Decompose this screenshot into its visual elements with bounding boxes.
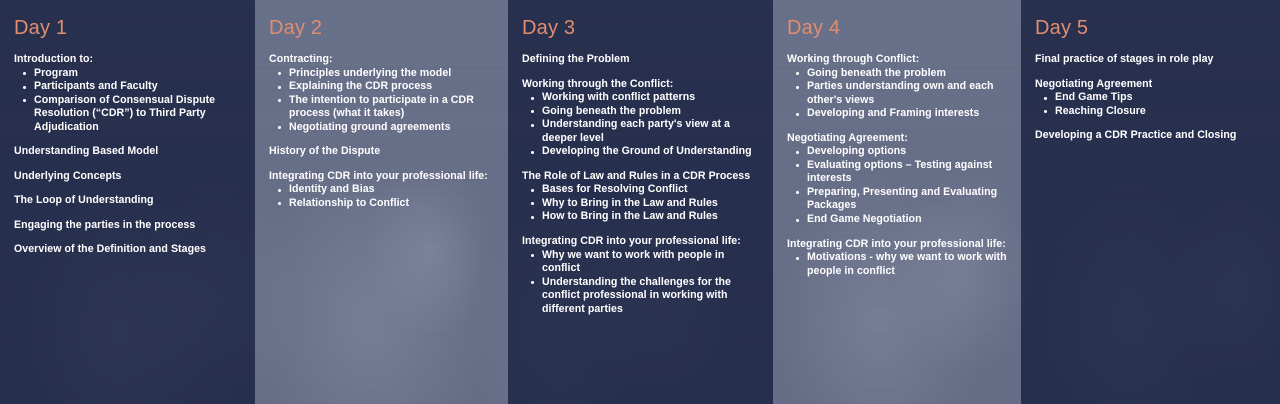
bullet-item: Identity and Bias <box>269 183 494 197</box>
day-column-3: Day 3 Defining the ProblemWorking throug… <box>508 0 773 404</box>
content-block: Integrating CDR into your professional l… <box>269 170 494 211</box>
bullet-item: Going beneath the problem <box>787 67 1007 81</box>
block-heading: Working through Conflict: <box>787 53 1007 67</box>
content-block: Engaging the parties in the process <box>14 219 241 233</box>
bullet-item: Developing options <box>787 145 1007 159</box>
bullet-list: Why we want to work with people in confl… <box>522 249 759 317</box>
day-content: Final practice of stages in role playNeg… <box>1035 53 1266 143</box>
bullet-item: How to Bring in the Law and Rules <box>522 210 759 224</box>
day-column-2: Day 2 Contracting:Principles underlying … <box>255 0 508 404</box>
day-title: Day 5 <box>1035 18 1266 38</box>
bullet-item: Comparison of Consensual Dispute Resolut… <box>14 94 241 135</box>
bullet-item: Developing and Framing interests <box>787 107 1007 121</box>
bullet-item: Program <box>14 67 241 81</box>
content-block: Understanding Based Model <box>14 145 241 159</box>
bullet-item: Relationship to Conflict <box>269 197 494 211</box>
content-block: Underlying Concepts <box>14 170 241 184</box>
bullet-item: Principles underlying the model <box>269 67 494 81</box>
content-block: History of the Dispute <box>269 145 494 159</box>
bullet-list: Working with conflict patternsGoing bene… <box>522 91 759 159</box>
slide-canvas: Day 1 Introduction to:ProgramParticipant… <box>0 0 1280 404</box>
bullet-list: End Game TipsReaching Closure <box>1035 91 1266 118</box>
bullet-list: Identity and BiasRelationship to Conflic… <box>269 183 494 210</box>
block-heading: The Role of Law and Rules in a CDR Proce… <box>522 170 759 184</box>
bullet-item: Why to Bring in the Law and Rules <box>522 197 759 211</box>
block-heading: Overview of the Definition and Stages <box>14 243 241 257</box>
content-block: Working through Conflict:Going beneath t… <box>787 53 1007 121</box>
block-heading: Developing a CDR Practice and Closing <box>1035 129 1266 143</box>
bullet-item: Parties understanding own and each other… <box>787 80 1007 107</box>
bullet-item: Motivations - why we want to work with p… <box>787 251 1007 278</box>
content-block: The Loop of Understanding <box>14 194 241 208</box>
day-title: Day 3 <box>522 18 759 38</box>
block-heading: History of the Dispute <box>269 145 494 159</box>
content-block: Integrating CDR into your professional l… <box>787 238 1007 279</box>
bullet-list: Going beneath the problemParties underst… <box>787 67 1007 121</box>
content-block: Integrating CDR into your professional l… <box>522 235 759 316</box>
block-heading: Integrating CDR into your professional l… <box>522 235 759 249</box>
block-heading: Working through the Conflict: <box>522 78 759 92</box>
content-block: Defining the Problem <box>522 53 759 67</box>
bullet-item: Reaching Closure <box>1035 105 1266 119</box>
block-heading: Negotiating Agreement: <box>787 132 1007 146</box>
day-title: Day 4 <box>787 18 1007 38</box>
bullet-item: Bases for Resolving Conflict <box>522 183 759 197</box>
day-content: Working through Conflict:Going beneath t… <box>787 53 1007 278</box>
bullet-item: Developing the Ground of Understanding <box>522 145 759 159</box>
bullet-list: ProgramParticipants and FacultyCompariso… <box>14 67 241 135</box>
bullet-item: Explaining the CDR process <box>269 80 494 94</box>
content-block: Negotiating Agreement:Developing options… <box>787 132 1007 227</box>
day-content: Defining the ProblemWorking through the … <box>522 53 759 316</box>
bullet-item: Why we want to work with people in confl… <box>522 249 759 276</box>
bullet-list: Principles underlying the modelExplainin… <box>269 67 494 135</box>
bullet-item: The intention to participate in a CDR pr… <box>269 94 494 121</box>
block-heading: Integrating CDR into your professional l… <box>787 238 1007 252</box>
day-content: Contracting:Principles underlying the mo… <box>269 53 494 210</box>
block-heading: Final practice of stages in role play <box>1035 53 1266 67</box>
content-block: Contracting:Principles underlying the mo… <box>269 53 494 134</box>
block-heading: Introduction to: <box>14 53 241 67</box>
bullet-item: Preparing, Presenting and Evaluating Pac… <box>787 186 1007 213</box>
day-column-1: Day 1 Introduction to:ProgramParticipant… <box>0 0 255 404</box>
block-heading: Defining the Problem <box>522 53 759 67</box>
bullet-item: End Game Negotiation <box>787 213 1007 227</box>
block-heading: Engaging the parties in the process <box>14 219 241 233</box>
day-column-5: Day 5 Final practice of stages in role p… <box>1021 0 1280 404</box>
bullet-item: Going beneath the problem <box>522 105 759 119</box>
content-block: Final practice of stages in role play <box>1035 53 1266 67</box>
day-content: Introduction to:ProgramParticipants and … <box>14 53 241 257</box>
bullet-item: Negotiating ground agreements <box>269 121 494 135</box>
bullet-item: Participants and Faculty <box>14 80 241 94</box>
block-heading: The Loop of Understanding <box>14 194 241 208</box>
block-heading: Contracting: <box>269 53 494 67</box>
bullet-list: Bases for Resolving ConflictWhy to Bring… <box>522 183 759 224</box>
day-title: Day 1 <box>14 18 241 38</box>
content-block: Negotiating AgreementEnd Game TipsReachi… <box>1035 78 1266 119</box>
bullet-item: End Game Tips <box>1035 91 1266 105</box>
content-block: The Role of Law and Rules in a CDR Proce… <box>522 170 759 224</box>
day-column-4: Day 4 Working through Conflict:Going ben… <box>773 0 1021 404</box>
block-heading: Negotiating Agreement <box>1035 78 1266 92</box>
bullet-item: Evaluating options – Testing against int… <box>787 159 1007 186</box>
bullet-list: Motivations - why we want to work with p… <box>787 251 1007 278</box>
content-block: Introduction to:ProgramParticipants and … <box>14 53 241 134</box>
block-heading: Underlying Concepts <box>14 170 241 184</box>
content-block: Working through the Conflict:Working wit… <box>522 78 759 159</box>
bullet-item: Understanding each party's view at a dee… <box>522 118 759 145</box>
block-heading: Integrating CDR into your professional l… <box>269 170 494 184</box>
content-block: Developing a CDR Practice and Closing <box>1035 129 1266 143</box>
bullet-list: Developing optionsEvaluating options – T… <box>787 145 1007 226</box>
day-title: Day 2 <box>269 18 494 38</box>
bullet-item: Understanding the challenges for the con… <box>522 276 759 317</box>
block-heading: Understanding Based Model <box>14 145 241 159</box>
content-block: Overview of the Definition and Stages <box>14 243 241 257</box>
bullet-item: Working with conflict patterns <box>522 91 759 105</box>
